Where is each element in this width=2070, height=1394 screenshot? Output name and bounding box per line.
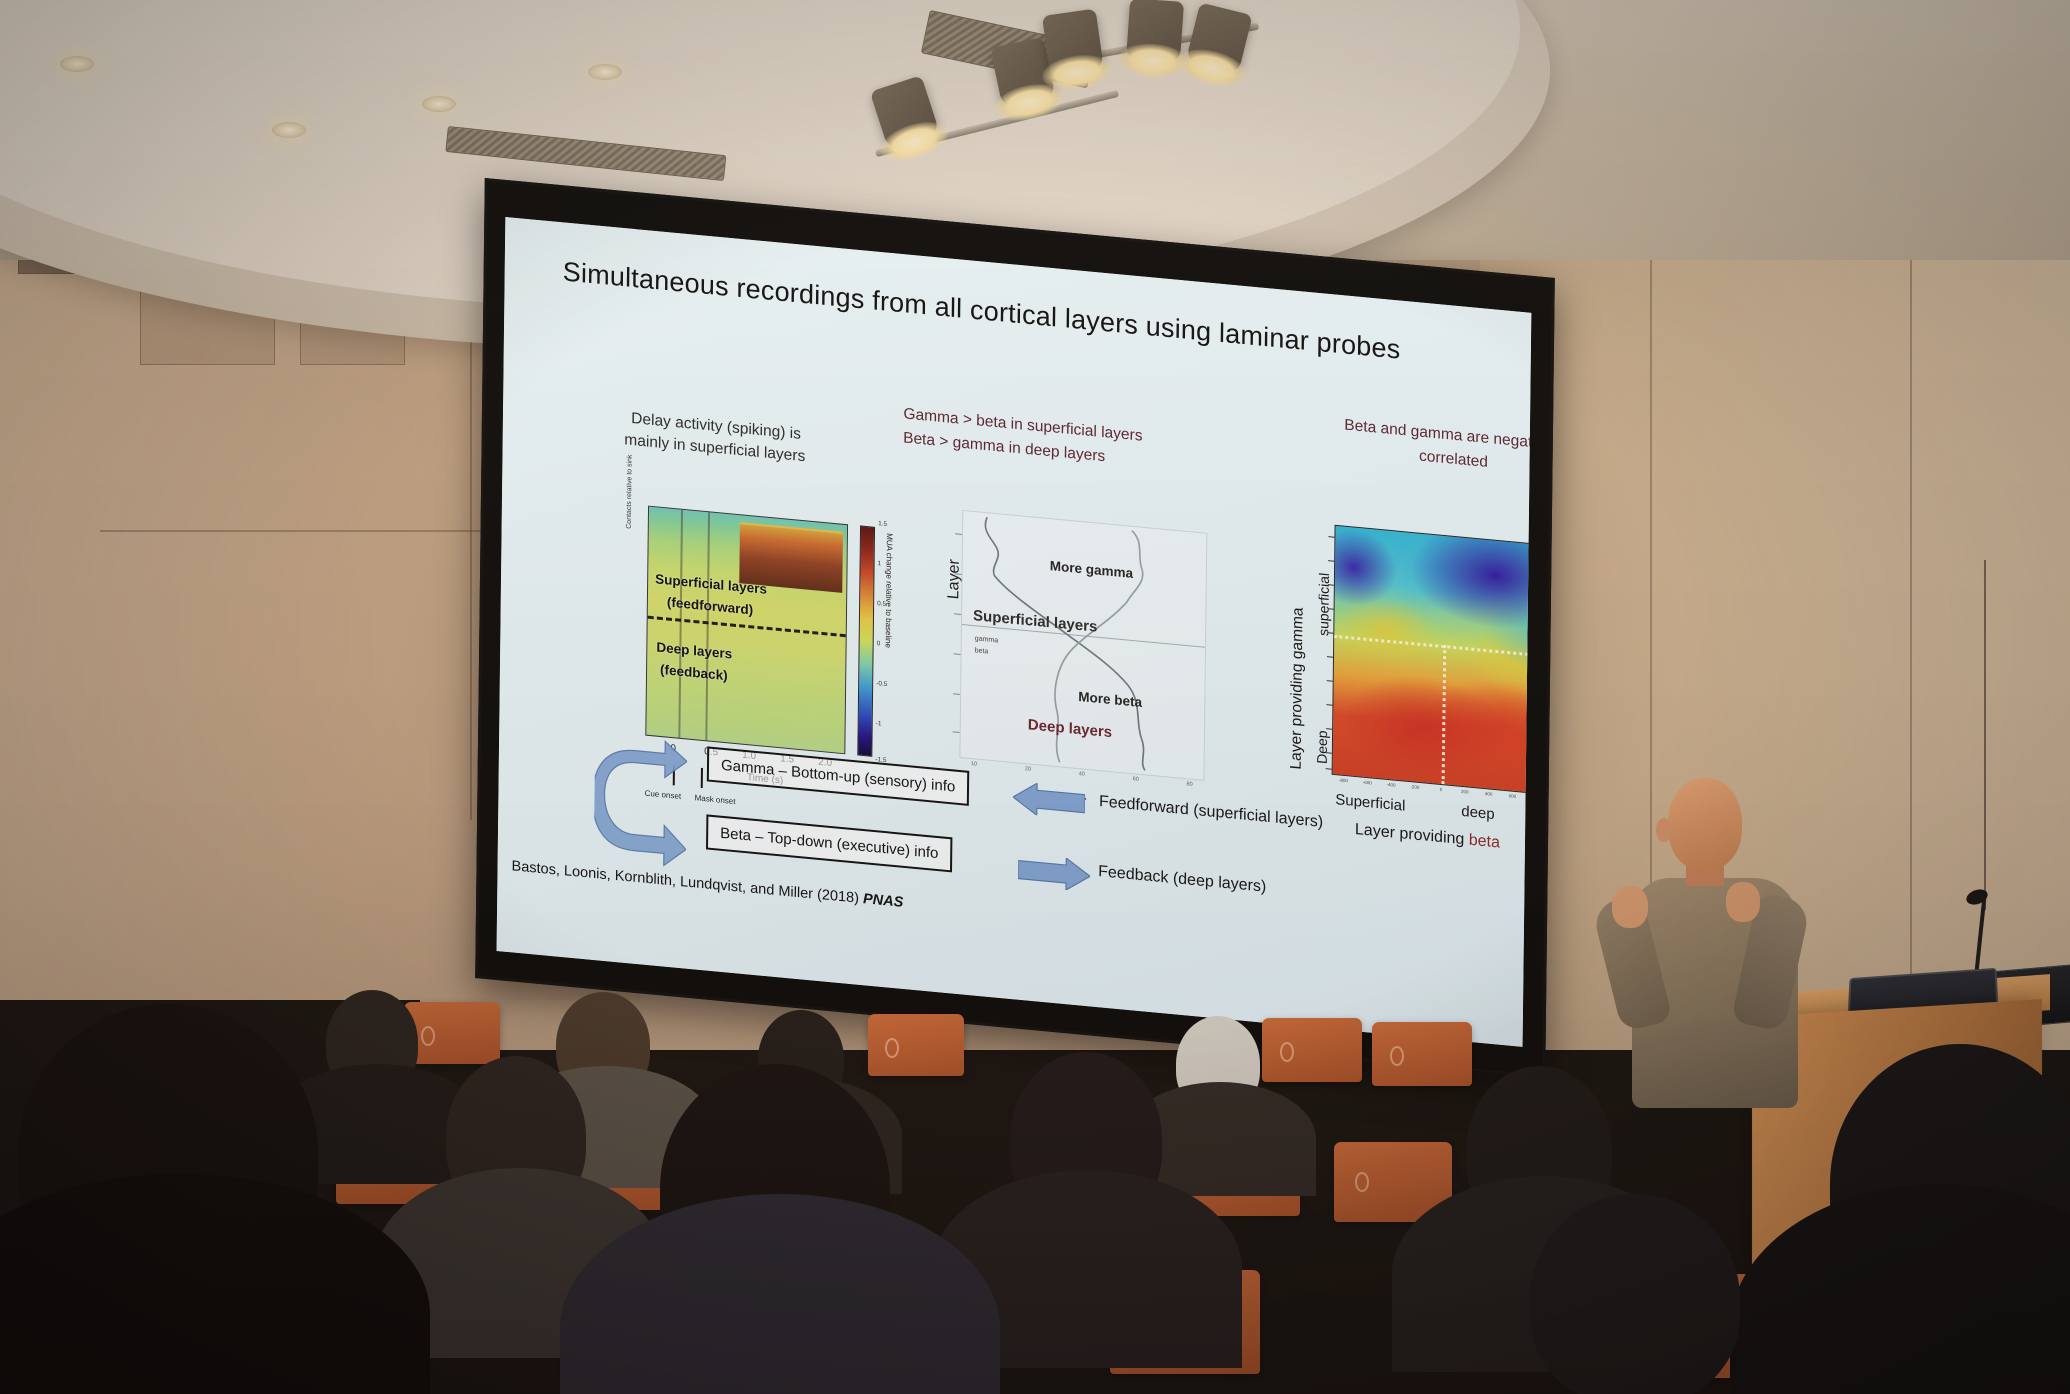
feedback-arrow-icon	[1018, 854, 1090, 893]
mua-heatmap	[645, 506, 848, 755]
cb-tick: 0	[877, 640, 881, 647]
box-gamma-bottom-up: Gamma – Bottom-up (sensory) info	[707, 746, 970, 806]
reference-line-vertical	[1441, 645, 1446, 784]
reference-line-horizontal	[1334, 635, 1531, 660]
auditorium-seat	[404, 1002, 500, 1064]
left-y-axis-title: Contacts relative to sink	[626, 454, 634, 529]
slide-title: Simultaneous recordings from all cortica…	[563, 256, 1463, 371]
audience-area	[0, 894, 2070, 1394]
legend-beta: beta	[975, 647, 989, 655]
power-profile-curves	[960, 511, 1206, 780]
mua-colorbar	[857, 525, 875, 756]
downlight-icon	[60, 56, 94, 72]
box-beta-top-down: Beta – Top-down (executive) info	[706, 814, 953, 872]
wall-seam	[100, 530, 500, 532]
auditorium-seat	[1262, 1018, 1362, 1082]
note-feedback: Feedback (deep layers)	[1098, 863, 1266, 897]
cue-onset-line	[678, 510, 683, 738]
audience-head	[1530, 1194, 1740, 1394]
presenter-head	[1668, 778, 1742, 870]
panel-left-mua-heatmap: Delay activity (spiking) is mainly in su…	[565, 403, 895, 434]
downlight-icon	[422, 96, 456, 112]
downlight-icon	[272, 122, 306, 138]
cb-tick: -0.5	[876, 680, 887, 688]
right-y-axis-title: Layer providing gamma	[1288, 607, 1308, 771]
power-depth-plot	[959, 510, 1207, 781]
audience-shoulders	[1730, 1184, 2070, 1394]
ceiling-cable	[1984, 560, 1986, 910]
x-title-accent: beta	[1469, 832, 1500, 852]
presenter-ear	[1656, 818, 1672, 842]
panel-middle-power-profile: Gamma > beta in superficial layers Beta …	[904, 404, 1234, 435]
cb-tick: -1	[876, 720, 882, 728]
mua-colorbar-title: MUA change relative to baseline	[884, 533, 894, 649]
cb-tick: 1	[878, 560, 882, 567]
right-x-tick-deep: deep	[1461, 803, 1495, 823]
spotlight-icon	[1126, 0, 1184, 64]
right-x-tick-superficial: Superficial	[1335, 791, 1405, 815]
mask-onset-line	[706, 512, 711, 740]
auditorium-seat	[1372, 1022, 1472, 1086]
note-feedforward: Feedforward (superficial layers)	[1099, 793, 1323, 832]
auditorium-seat	[868, 1014, 964, 1076]
audience-shoulders	[0, 1174, 430, 1394]
cb-tick: 1.5	[878, 520, 887, 528]
right-x-axis-title: Layer providing beta	[1355, 821, 1500, 853]
lecture-hall-scene: Simultaneous recordings from all cortica…	[0, 0, 2070, 1394]
mask-onset-label: Mask onset	[695, 793, 736, 806]
feedforward-arrow-icon	[1013, 781, 1085, 820]
panel-right-correlation-heatmap: Beta and gamma are negatively correlated…	[1244, 406, 1531, 436]
recurrent-loop-arrow-icon	[594, 731, 688, 878]
x-title-plain: Layer providing	[1355, 821, 1469, 849]
spotlight-icon	[1042, 9, 1104, 78]
downlight-icon	[588, 64, 622, 80]
power-correlation-heatmap	[1332, 525, 1532, 797]
layer-divider-line	[648, 616, 846, 638]
mask-onset-tick	[701, 768, 703, 788]
